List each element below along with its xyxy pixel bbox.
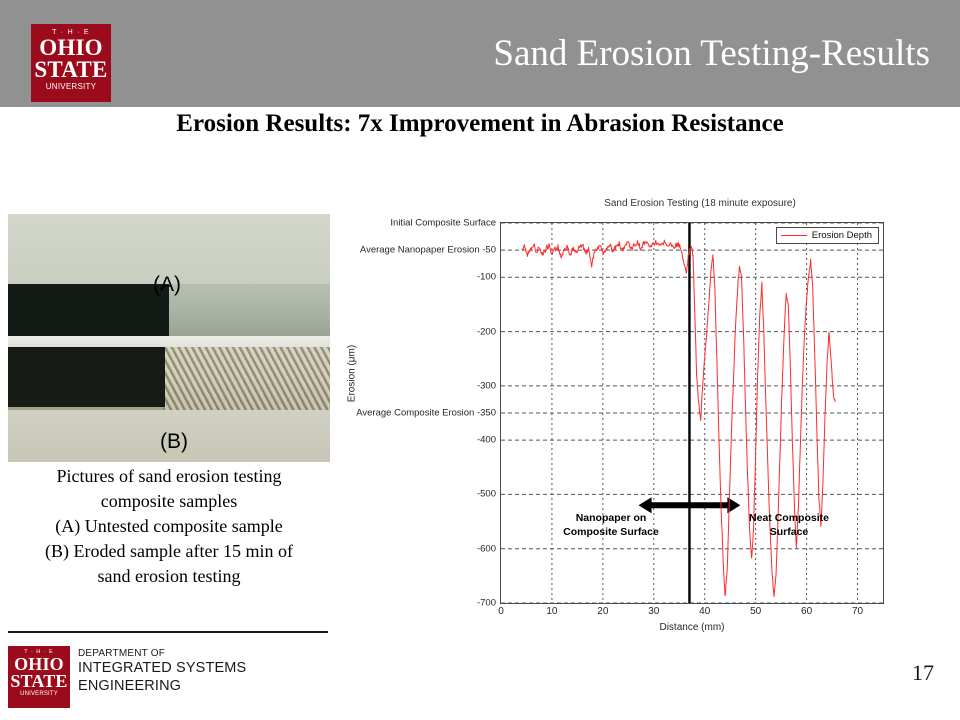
y-tick-label: Average Nanopaper Erosion -50 [360, 245, 496, 256]
page-number: 17 [912, 660, 934, 686]
region-label-line: Nanopaper on [551, 511, 671, 525]
x-tick-label: 20 [597, 606, 608, 617]
page-title: Sand Erosion Testing-Results [330, 28, 930, 84]
chart-legend[interactable]: Erosion Depth [776, 227, 879, 244]
legend-color-swatch [781, 235, 807, 236]
footer-divider [8, 631, 328, 633]
erosion-depth-series [521, 240, 835, 596]
photo-seam [8, 336, 330, 347]
caption-line: Pictures of sand erosion testing [0, 464, 338, 489]
sample-b-masked-region [8, 347, 165, 407]
slide: T · H · E OHIO STATE UNIVERSITY Sand Ero… [0, 0, 960, 720]
left-region-label: Nanopaper onComposite Surface [551, 511, 671, 539]
x-tick-label: 0 [498, 606, 504, 617]
footer-ohio-state-logo: T · H · E OHIO STATE UNIVERSITY [8, 646, 70, 708]
x-tick-label: 50 [750, 606, 761, 617]
footer-dept-line-3: ENGINEERING [78, 677, 246, 695]
caption-line: (B) Eroded sample after 15 min of [0, 539, 338, 564]
sample-photograph: (A) (B) [8, 214, 330, 462]
x-tick-label: 10 [546, 606, 557, 617]
footer-dept-line-1: DEPARTMENT OF [78, 648, 246, 659]
x-tick-label: 70 [852, 606, 863, 617]
sample-b-eroded-texture [163, 347, 330, 410]
y-tick-label: -100 [477, 272, 496, 283]
chart-gridlines [501, 223, 883, 603]
logo-state-text: STATE [31, 59, 111, 81]
footer-department: DEPARTMENT OF INTEGRATED SYSTEMS ENGINEE… [78, 648, 246, 695]
y-tick-label: -300 [477, 380, 496, 391]
erosion-chart: Sand Erosion Testing (18 minute exposure… [330, 196, 950, 626]
slide-subtitle: Erosion Results: 7x Improvement in Abras… [0, 110, 960, 138]
ohio-state-logo: T · H · E OHIO STATE UNIVERSITY [31, 24, 111, 102]
chart-x-axis-ticks: 010203040506070 [500, 606, 884, 622]
chart-plot-area: Nanopaper onComposite Surface Neat Compo… [500, 222, 884, 604]
chart-x-axis-label: Distance (mm) [500, 622, 884, 633]
chart-title: Sand Erosion Testing (18 minute exposure… [490, 198, 910, 209]
sample-a-masked-region [8, 284, 169, 336]
caption-line: sand erosion testing [0, 564, 338, 589]
x-tick-label: 40 [699, 606, 710, 617]
sample-a-label: (A) [153, 275, 193, 295]
x-tick-label: 60 [801, 606, 812, 617]
legend-label: Erosion Depth [812, 230, 872, 241]
y-tick-label: -700 [477, 598, 496, 609]
logo-ohio-text: OHIO [31, 37, 111, 59]
sample-b-label: (B) [160, 432, 188, 452]
caption-line: (A) Untested composite sample [0, 514, 338, 539]
y-tick-label: -600 [477, 543, 496, 554]
logo-university-text: UNIVERSITY [31, 83, 111, 91]
photo-caption: Pictures of sand erosion testing composi… [0, 464, 338, 589]
region-label-line: Composite Surface [551, 525, 671, 539]
y-tick-label: -200 [477, 326, 496, 337]
x-tick-label: 30 [648, 606, 659, 617]
region-label-line: Neat Composite [729, 511, 849, 525]
y-tick-label: -500 [477, 489, 496, 500]
right-region-label: Neat CompositeSurface [729, 511, 849, 539]
chart-plot-svg [501, 223, 883, 603]
y-tick-label: -400 [477, 435, 496, 446]
y-tick-label: Initial Composite Surface [390, 218, 496, 229]
caption-line: composite samples [0, 489, 338, 514]
footer-logo-university-text: UNIVERSITY [8, 691, 70, 697]
footer-dept-line-2: INTEGRATED SYSTEMS [78, 659, 246, 677]
region-label-line: Surface [729, 525, 849, 539]
chart-y-axis-ticks: Initial Composite SurfaceAverage Nanopap… [330, 222, 496, 604]
y-tick-label: Average Composite Erosion -350 [356, 408, 496, 419]
footer-logo-state-text: STATE [8, 673, 70, 690]
